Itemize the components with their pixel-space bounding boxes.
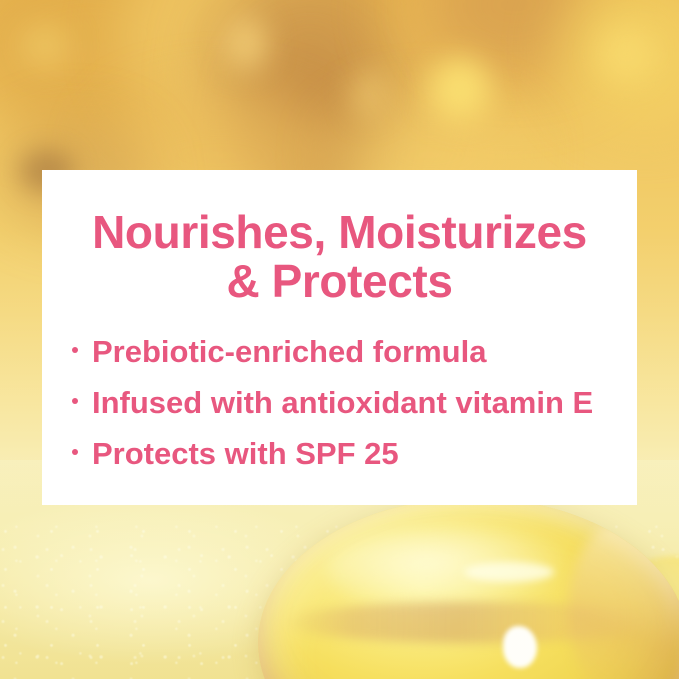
bullet-dot-icon: [72, 398, 78, 404]
bullet-dot-icon: [72, 347, 78, 353]
list-item: Prebiotic-enriched formula: [70, 336, 637, 367]
bokeh-highlight: [225, 18, 267, 70]
benefits-card: Nourishes, Moisturizes & Protects Prebio…: [42, 170, 637, 505]
bokeh-highlight: [20, 24, 70, 68]
list-item-label: Protects with SPF 25: [92, 438, 399, 469]
bullet-dot-icon: [72, 449, 78, 455]
benefits-list: Prebiotic-enriched formula Infused with …: [42, 306, 637, 469]
bokeh-highlight: [352, 70, 386, 118]
list-item-label: Infused with antioxidant vitamin E: [92, 387, 593, 418]
bokeh-highlight: [598, 26, 656, 82]
headline: Nourishes, Moisturizes & Protects: [42, 170, 637, 306]
list-item: Infused with antioxidant vitamin E: [70, 387, 637, 418]
headline-line-1: Nourishes, Moisturizes: [70, 208, 609, 257]
product-benefit-graphic: Nourishes, Moisturizes & Protects Prebio…: [0, 0, 679, 679]
capsule-specular-highlight: [503, 626, 537, 668]
capsule-secondary-highlight: [464, 562, 554, 582]
headline-line-2: & Protects: [70, 257, 609, 306]
list-item: Protects with SPF 25: [70, 438, 637, 469]
bokeh-highlight: [430, 58, 490, 120]
list-item-label: Prebiotic-enriched formula: [92, 336, 486, 367]
